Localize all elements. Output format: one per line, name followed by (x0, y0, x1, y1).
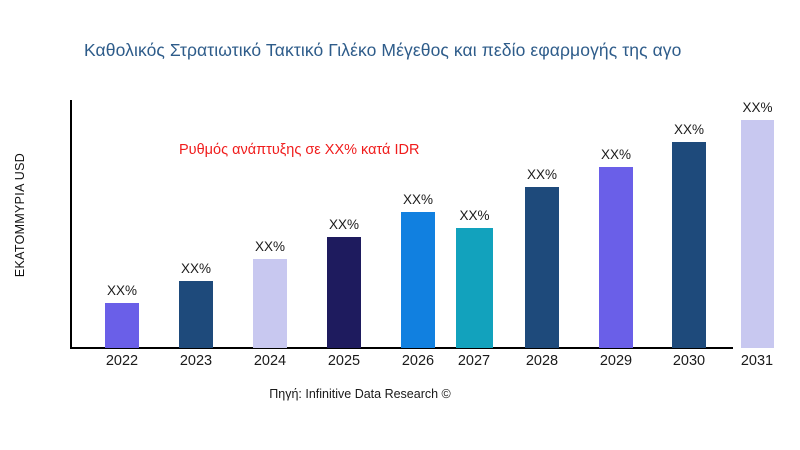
bar-2024[interactable]: XX% (253, 259, 287, 348)
bar-2023[interactable]: XX% (179, 281, 213, 348)
bar-value-label: XX% (329, 217, 359, 232)
bar-2030[interactable]: XX% (672, 142, 706, 348)
x-axis-tick-2030: 2030 (673, 353, 705, 369)
plot-area: XX%2022XX%2023XX%2024XX%2025XX%2026XX%20… (0, 0, 800, 450)
bar-2028[interactable]: XX% (525, 187, 559, 348)
bar-value-label: XX% (181, 261, 211, 276)
bar-2031[interactable]: XX% (741, 120, 774, 348)
bar-2029[interactable]: XX% (599, 167, 633, 348)
x-axis-tick-2028: 2028 (526, 353, 558, 369)
chart-canvas: Καθολικός Στρατιωτικό Τακτικό Γιλέκο Μέγ… (0, 0, 800, 450)
bar-value-label: XX% (742, 100, 772, 115)
bar-value-label: XX% (674, 122, 704, 137)
bar-value-label: XX% (403, 192, 433, 207)
x-axis-tick-2031: 2031 (741, 353, 773, 369)
bar-2025[interactable]: XX% (327, 237, 361, 348)
x-axis-tick-2027: 2027 (458, 353, 490, 369)
x-axis-tick-2022: 2022 (106, 353, 138, 369)
bar-2026[interactable]: XX% (401, 212, 435, 348)
x-axis-tick-2024: 2024 (254, 353, 286, 369)
bar-value-label: XX% (527, 167, 557, 182)
bar-value-label: XX% (255, 239, 285, 254)
x-axis-tick-2023: 2023 (180, 353, 212, 369)
source-caption: Πηγή: Infinitive Data Research © (0, 387, 720, 401)
bar-value-label: XX% (107, 283, 137, 298)
bar-2027[interactable]: XX% (456, 228, 493, 348)
bar-2022[interactable]: XX% (105, 303, 139, 348)
bar-value-label: XX% (601, 147, 631, 162)
bar-value-label: XX% (459, 208, 489, 223)
growth-rate-annotation: Ρυθμός ανάπτυξης σε XX% κατά IDR (179, 142, 419, 158)
x-axis-tick-2025: 2025 (328, 353, 360, 369)
x-axis-tick-2026: 2026 (402, 353, 434, 369)
x-axis-tick-2029: 2029 (600, 353, 632, 369)
